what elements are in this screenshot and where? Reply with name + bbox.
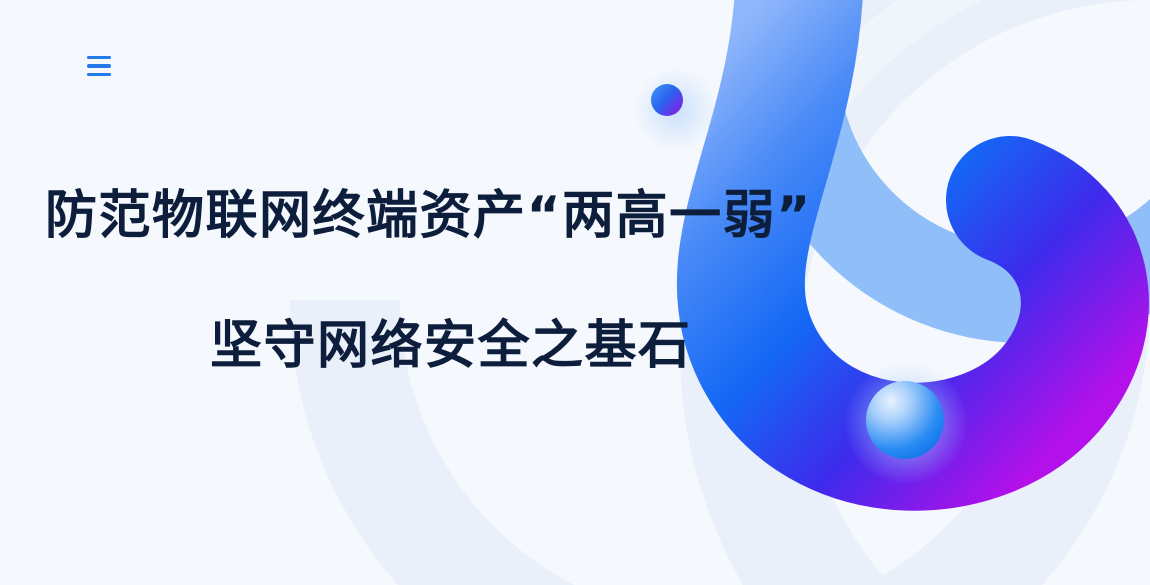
large-blue-sphere [866, 381, 944, 459]
hero-title-line-1: 防范物联网终端资产“两高一弱” [45, 190, 880, 242]
large-sphere-glow [844, 361, 968, 485]
hamburger-menu-icon[interactable] [80, 48, 118, 84]
menu-bar-bottom [87, 73, 111, 77]
hero-title-line-2: 坚守网络安全之基石 [210, 320, 880, 372]
hero-title-block: 防范物联网终端资产“两高一弱” 坚守网络安全之基石 [0, 190, 880, 372]
slide-canvas: 防范物联网终端资产“两高一弱” 坚守网络安全之基石 [0, 0, 1150, 585]
page-header [0, 0, 1150, 130]
menu-bar-top [87, 56, 111, 60]
menu-bar-middle [87, 64, 111, 68]
